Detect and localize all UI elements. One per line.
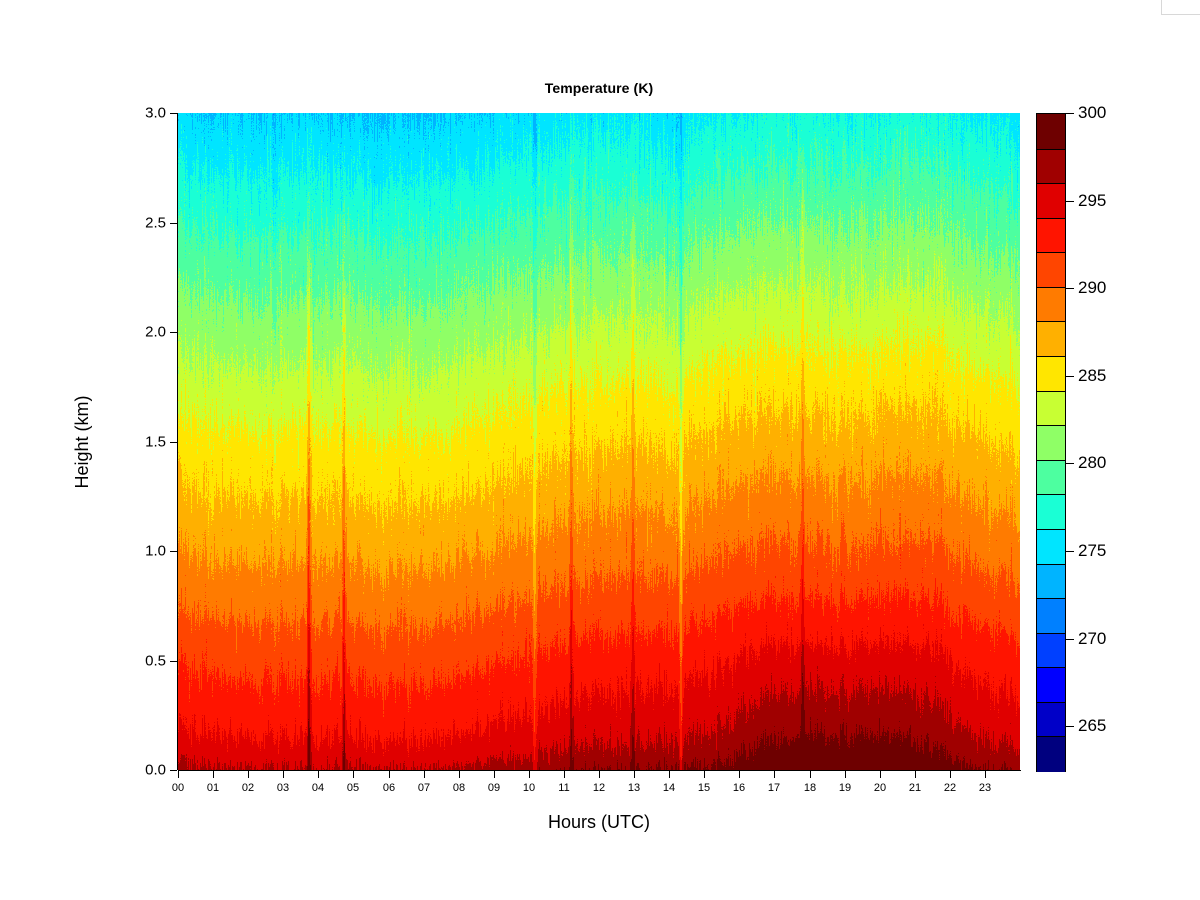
- y-tick-label-2.0: 2.0: [145, 324, 166, 341]
- x-tick-08: [459, 771, 460, 778]
- colorbar-band-7: [1037, 494, 1065, 529]
- x-tick-23: [985, 771, 986, 778]
- colorbar-tick-290: [1066, 288, 1074, 289]
- x-tick-label-22: 22: [944, 782, 956, 794]
- x-tick-label-05: 05: [347, 782, 359, 794]
- page-title: Temperature (K): [178, 80, 1020, 96]
- heatmap-panel[interactable]: [178, 113, 1020, 770]
- x-tick-16: [739, 771, 740, 778]
- x-tick-10: [529, 771, 530, 778]
- y-tick-0.0: [170, 770, 177, 771]
- colorbar-separator-11: [1037, 391, 1065, 392]
- colorbar-band-17: [1037, 149, 1065, 184]
- x-tick-label-06: 06: [383, 782, 395, 794]
- x-tick-01: [213, 771, 214, 778]
- colorbar-band-13: [1037, 287, 1065, 322]
- x-tick-13: [634, 771, 635, 778]
- y-tick-3.0: [170, 113, 177, 114]
- x-tick-label-12: 12: [593, 782, 605, 794]
- colorbar-separator-2: [1037, 702, 1065, 703]
- colorbar-separator-3: [1037, 667, 1065, 668]
- y-axis-line: [177, 113, 178, 770]
- colorbar-tick-265: [1066, 726, 1074, 727]
- y-tick-label-1.5: 1.5: [145, 434, 166, 451]
- y-axis-label: Height (km): [72, 322, 93, 562]
- y-tick-1.0: [170, 551, 177, 552]
- colorbar-separator-10: [1037, 425, 1065, 426]
- colorbar-label-300: 300: [1078, 103, 1106, 123]
- colorbar-tick-285: [1066, 376, 1074, 377]
- x-tick-label-10: 10: [523, 782, 535, 794]
- colorbar-label-280: 280: [1078, 453, 1106, 473]
- x-tick-14: [669, 771, 670, 778]
- colorbar-separator-15: [1037, 252, 1065, 253]
- y-tick-label-3.0: 3.0: [145, 105, 166, 122]
- colorbar-separator-8: [1037, 494, 1065, 495]
- colorbar-label-265: 265: [1078, 716, 1106, 736]
- corner-mark: [1161, 0, 1200, 15]
- colorbar-tick-295: [1066, 201, 1074, 202]
- x-tick-20: [880, 771, 881, 778]
- colorbar-tick-275: [1066, 551, 1074, 552]
- colorbar-band-3: [1037, 633, 1065, 668]
- colorbar-label-290: 290: [1078, 278, 1106, 298]
- y-tick-label-0.0: 0.0: [145, 762, 166, 779]
- x-tick-label-13: 13: [628, 782, 640, 794]
- x-tick-label-07: 07: [418, 782, 430, 794]
- x-tick-label-20: 20: [874, 782, 886, 794]
- x-tick-label-01: 01: [207, 782, 219, 794]
- x-tick-02: [248, 771, 249, 778]
- colorbar-band-6: [1037, 529, 1065, 564]
- colorbar-band-11: [1037, 356, 1065, 391]
- colorbar-label-285: 285: [1078, 366, 1106, 386]
- x-tick-06: [389, 771, 390, 778]
- x-tick-label-09: 09: [488, 782, 500, 794]
- x-tick-11: [564, 771, 565, 778]
- x-tick-18: [810, 771, 811, 778]
- colorbar-separator-14: [1037, 287, 1065, 288]
- colorbar-separator-5: [1037, 598, 1065, 599]
- x-tick-label-15: 15: [698, 782, 710, 794]
- x-tick-label-11: 11: [558, 782, 569, 794]
- x-tick-15: [704, 771, 705, 778]
- y-tick-2.0: [170, 332, 177, 333]
- x-tick-label-19: 19: [839, 782, 851, 794]
- x-tick-label-14: 14: [663, 782, 675, 794]
- colorbar-band-8: [1037, 460, 1065, 495]
- x-axis-label: Hours (UTC): [178, 812, 1020, 833]
- colorbar-band-0: [1037, 736, 1065, 771]
- x-tick-03: [283, 771, 284, 778]
- heatmap-canvas[interactable]: [178, 113, 1020, 770]
- x-tick-label-23: 23: [979, 782, 991, 794]
- x-tick-07: [424, 771, 425, 778]
- x-tick-label-02: 02: [242, 782, 254, 794]
- colorbar-separator-13: [1037, 321, 1065, 322]
- y-tick-0.5: [170, 661, 177, 662]
- x-tick-22: [950, 771, 951, 778]
- figure-root: Temperature (K) 0.00.51.01.52.02.53.0 00…: [0, 0, 1200, 900]
- colorbar-separator-7: [1037, 529, 1065, 530]
- x-tick-12: [599, 771, 600, 778]
- colorbar-separator-12: [1037, 356, 1065, 357]
- colorbar-band-1: [1037, 702, 1065, 737]
- x-tick-label-18: 18: [804, 782, 816, 794]
- colorbar-label-275: 275: [1078, 541, 1106, 561]
- colorbar-label-295: 295: [1078, 191, 1106, 211]
- colorbar-label-270: 270: [1078, 629, 1106, 649]
- x-tick-17: [774, 771, 775, 778]
- y-tick-2.5: [170, 223, 177, 224]
- x-tick-label-03: 03: [277, 782, 289, 794]
- colorbar-separator-18: [1037, 149, 1065, 150]
- x-tick-00: [178, 771, 179, 778]
- x-tick-label-08: 08: [453, 782, 465, 794]
- colorbar-separator-9: [1037, 460, 1065, 461]
- colorbar-band-16: [1037, 183, 1065, 218]
- colorbar-tick-280: [1066, 463, 1074, 464]
- colorbar-separator-4: [1037, 633, 1065, 634]
- colorbar-band-12: [1037, 321, 1065, 356]
- colorbar-band-14: [1037, 252, 1065, 287]
- y-tick-label-1.0: 1.0: [145, 543, 166, 560]
- colorbar-tick-300: [1066, 113, 1074, 114]
- y-tick-1.5: [170, 442, 177, 443]
- colorbar-band-4: [1037, 598, 1065, 633]
- colorbar-separator-17: [1037, 183, 1065, 184]
- x-tick-label-21: 21: [909, 782, 921, 794]
- colorbar-separator-16: [1037, 218, 1065, 219]
- x-tick-09: [494, 771, 495, 778]
- colorbar-band-15: [1037, 218, 1065, 253]
- colorbar-band-2: [1037, 667, 1065, 702]
- colorbar-band-10: [1037, 391, 1065, 426]
- colorbar-tick-270: [1066, 639, 1074, 640]
- y-tick-label-0.5: 0.5: [145, 653, 166, 670]
- x-tick-19: [845, 771, 846, 778]
- colorbar-separator-1: [1037, 736, 1065, 737]
- colorbar-band-18: [1037, 114, 1065, 149]
- colorbar-band-9: [1037, 425, 1065, 460]
- x-tick-04: [318, 771, 319, 778]
- x-tick-21: [915, 771, 916, 778]
- colorbar[interactable]: [1036, 113, 1066, 772]
- x-tick-label-17: 17: [768, 782, 780, 794]
- x-tick-label-00: 00: [172, 782, 184, 794]
- colorbar-band-5: [1037, 564, 1065, 599]
- x-tick-label-04: 04: [312, 782, 324, 794]
- y-tick-label-2.5: 2.5: [145, 215, 166, 232]
- x-tick-05: [353, 771, 354, 778]
- x-tick-label-16: 16: [733, 782, 745, 794]
- colorbar-separator-6: [1037, 564, 1065, 565]
